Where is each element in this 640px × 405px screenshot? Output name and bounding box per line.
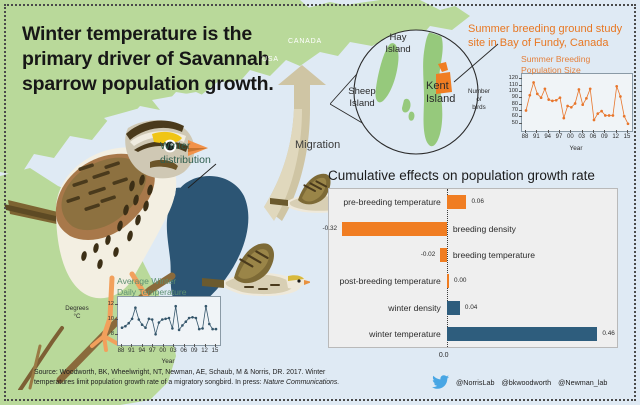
x-tick-mark: [548, 130, 549, 133]
x-tick-mark: [616, 130, 617, 133]
country-label-canada: CANADA: [288, 38, 322, 45]
migration-label: Migration: [295, 139, 340, 151]
bar-post-breeding-temperature: [447, 274, 449, 288]
x-tick-mark: [205, 344, 206, 347]
x-tick-mark: [627, 130, 628, 133]
bar-row: pre-breeding temperature0.06: [329, 195, 617, 209]
x-tick-mark: [184, 344, 185, 347]
bar-breeding-temperature: [440, 248, 447, 262]
source-journal: Nature Communications.: [263, 379, 339, 386]
x-tick-mark: [121, 344, 122, 347]
winter-chart-title: Average WinterDaily Temperature: [117, 276, 217, 297]
y-tick-mark: [519, 110, 522, 111]
handle-bkwoodworth[interactable]: @bkwoodworth: [501, 378, 551, 387]
bar-value-label: 0.04: [465, 301, 477, 315]
bar-row: breeding temperature-0.02: [329, 248, 617, 262]
y-tick-label: 70: [504, 107, 518, 113]
bar-chart-plot-area: pre-breeding temperature0.06breeding den…: [328, 188, 618, 348]
social-handles: @NorrisLab @bkwoodworth @Newman_lab: [432, 375, 607, 389]
bar-row: winter density0.04: [329, 301, 617, 315]
x-tick-mark: [559, 130, 560, 133]
summer-chart-x-axis-title: Year: [521, 145, 631, 152]
x-tick-mark: [131, 344, 132, 347]
x-tick-mark: [536, 130, 537, 133]
bar-chart-zero-tick-label: 0.0: [439, 352, 449, 359]
y-tick-label: 8: [100, 331, 114, 337]
page-title: Winter temperature is the primary driver…: [22, 22, 292, 97]
bar-chart-zero-line: [447, 189, 448, 347]
bar-pre-breeding-temperature: [447, 195, 467, 209]
y-tick-label: 110: [504, 82, 518, 88]
island-label-kent: KentIsland: [426, 80, 455, 106]
y-tick-mark: [519, 97, 522, 98]
summer-chart-side-label: Numberofbirds: [462, 88, 496, 111]
bar-category-label: winter density: [388, 301, 441, 315]
island-label-hay: HayIsland: [378, 32, 418, 55]
y-tick-mark: [519, 78, 522, 79]
x-tick-mark: [163, 344, 164, 347]
bar-category-label: winter temperature: [369, 327, 441, 341]
country-label-usa: USA: [262, 56, 279, 63]
bar-category-label: breeding temperature: [453, 248, 535, 262]
bar-category-label: breeding density: [453, 222, 516, 236]
bar-value-label: 0.46: [602, 327, 614, 341]
handle-newman-lab[interactable]: @Newman_lab: [558, 378, 607, 387]
handle-norrislab[interactable]: @NorrisLab: [456, 378, 494, 387]
x-tick-label: 15: [620, 134, 634, 140]
x-tick-mark: [604, 130, 605, 133]
y-tick-mark: [115, 334, 118, 335]
summer-breeding-population-chart: [521, 73, 633, 132]
x-tick-mark: [215, 344, 216, 347]
bar-category-label: post-breeding temperature: [340, 274, 441, 288]
x-tick-mark: [152, 344, 153, 347]
y-tick-mark: [519, 91, 522, 92]
winter-chart-side-label: Degrees°C: [58, 305, 96, 321]
y-tick-mark: [519, 85, 522, 86]
bar-row: breeding density-0.32: [329, 222, 617, 236]
y-tick-mark: [115, 304, 118, 305]
bar-value-label: 0.00: [454, 274, 466, 288]
bar-chart-title: Cumulative effects on population growth …: [328, 168, 622, 183]
y-tick-label: 90: [504, 94, 518, 100]
average-winter-daily-temperature-chart: [117, 296, 221, 346]
bar-breeding-density: [342, 222, 447, 236]
bar-row: post-breeding temperature0.00: [329, 274, 617, 288]
cumulative-effects-panel: Cumulative effects on population growth …: [322, 168, 622, 360]
y-tick-label: 80: [504, 101, 518, 107]
y-tick-label: 10: [100, 316, 114, 322]
x-tick-mark: [194, 344, 195, 347]
study-site-caption: Summer breeding ground study site in Bay…: [468, 22, 633, 51]
bar-row: winter temperature0.46: [329, 327, 617, 341]
summer-chart-title: Summer BreedingPopulation Size: [521, 54, 631, 75]
bar-value-label: -0.02: [421, 248, 436, 262]
source-citation: Source: Woodworth, BK, Wheelwright, NT, …: [34, 368, 364, 388]
y-tick-label: 12: [100, 301, 114, 307]
y-tick-mark: [519, 116, 522, 117]
winter-chart-x-axis-title: Year: [117, 358, 219, 365]
y-tick-label: 60: [504, 113, 518, 119]
infographic-root: CANADA USA Winter temperature is the pri…: [0, 0, 640, 405]
bar-winter-temperature: [447, 327, 598, 341]
x-tick-label: 15: [208, 348, 222, 354]
x-tick-mark: [570, 130, 571, 133]
island-label-sheep: SheepIsland: [340, 86, 384, 109]
bar-winter-density: [447, 301, 460, 315]
y-tick-mark: [115, 319, 118, 320]
y-tick-label: 50: [504, 120, 518, 126]
bar-value-label: -0.32: [323, 222, 338, 236]
twitter-bird-icon: [432, 375, 449, 389]
y-tick-label: 120: [504, 75, 518, 81]
x-tick-mark: [593, 130, 594, 133]
x-tick-mark: [582, 130, 583, 133]
bar-category-label: pre-breeding temperature: [343, 195, 440, 209]
y-tick-label: 100: [504, 88, 518, 94]
bar-value-label: 0.06: [471, 195, 483, 209]
y-tick-mark: [519, 104, 522, 105]
y-tick-mark: [519, 123, 522, 124]
winter-distribution-label: Winterdistribution: [160, 140, 211, 167]
x-tick-mark: [142, 344, 143, 347]
x-tick-mark: [173, 344, 174, 347]
x-tick-mark: [525, 130, 526, 133]
